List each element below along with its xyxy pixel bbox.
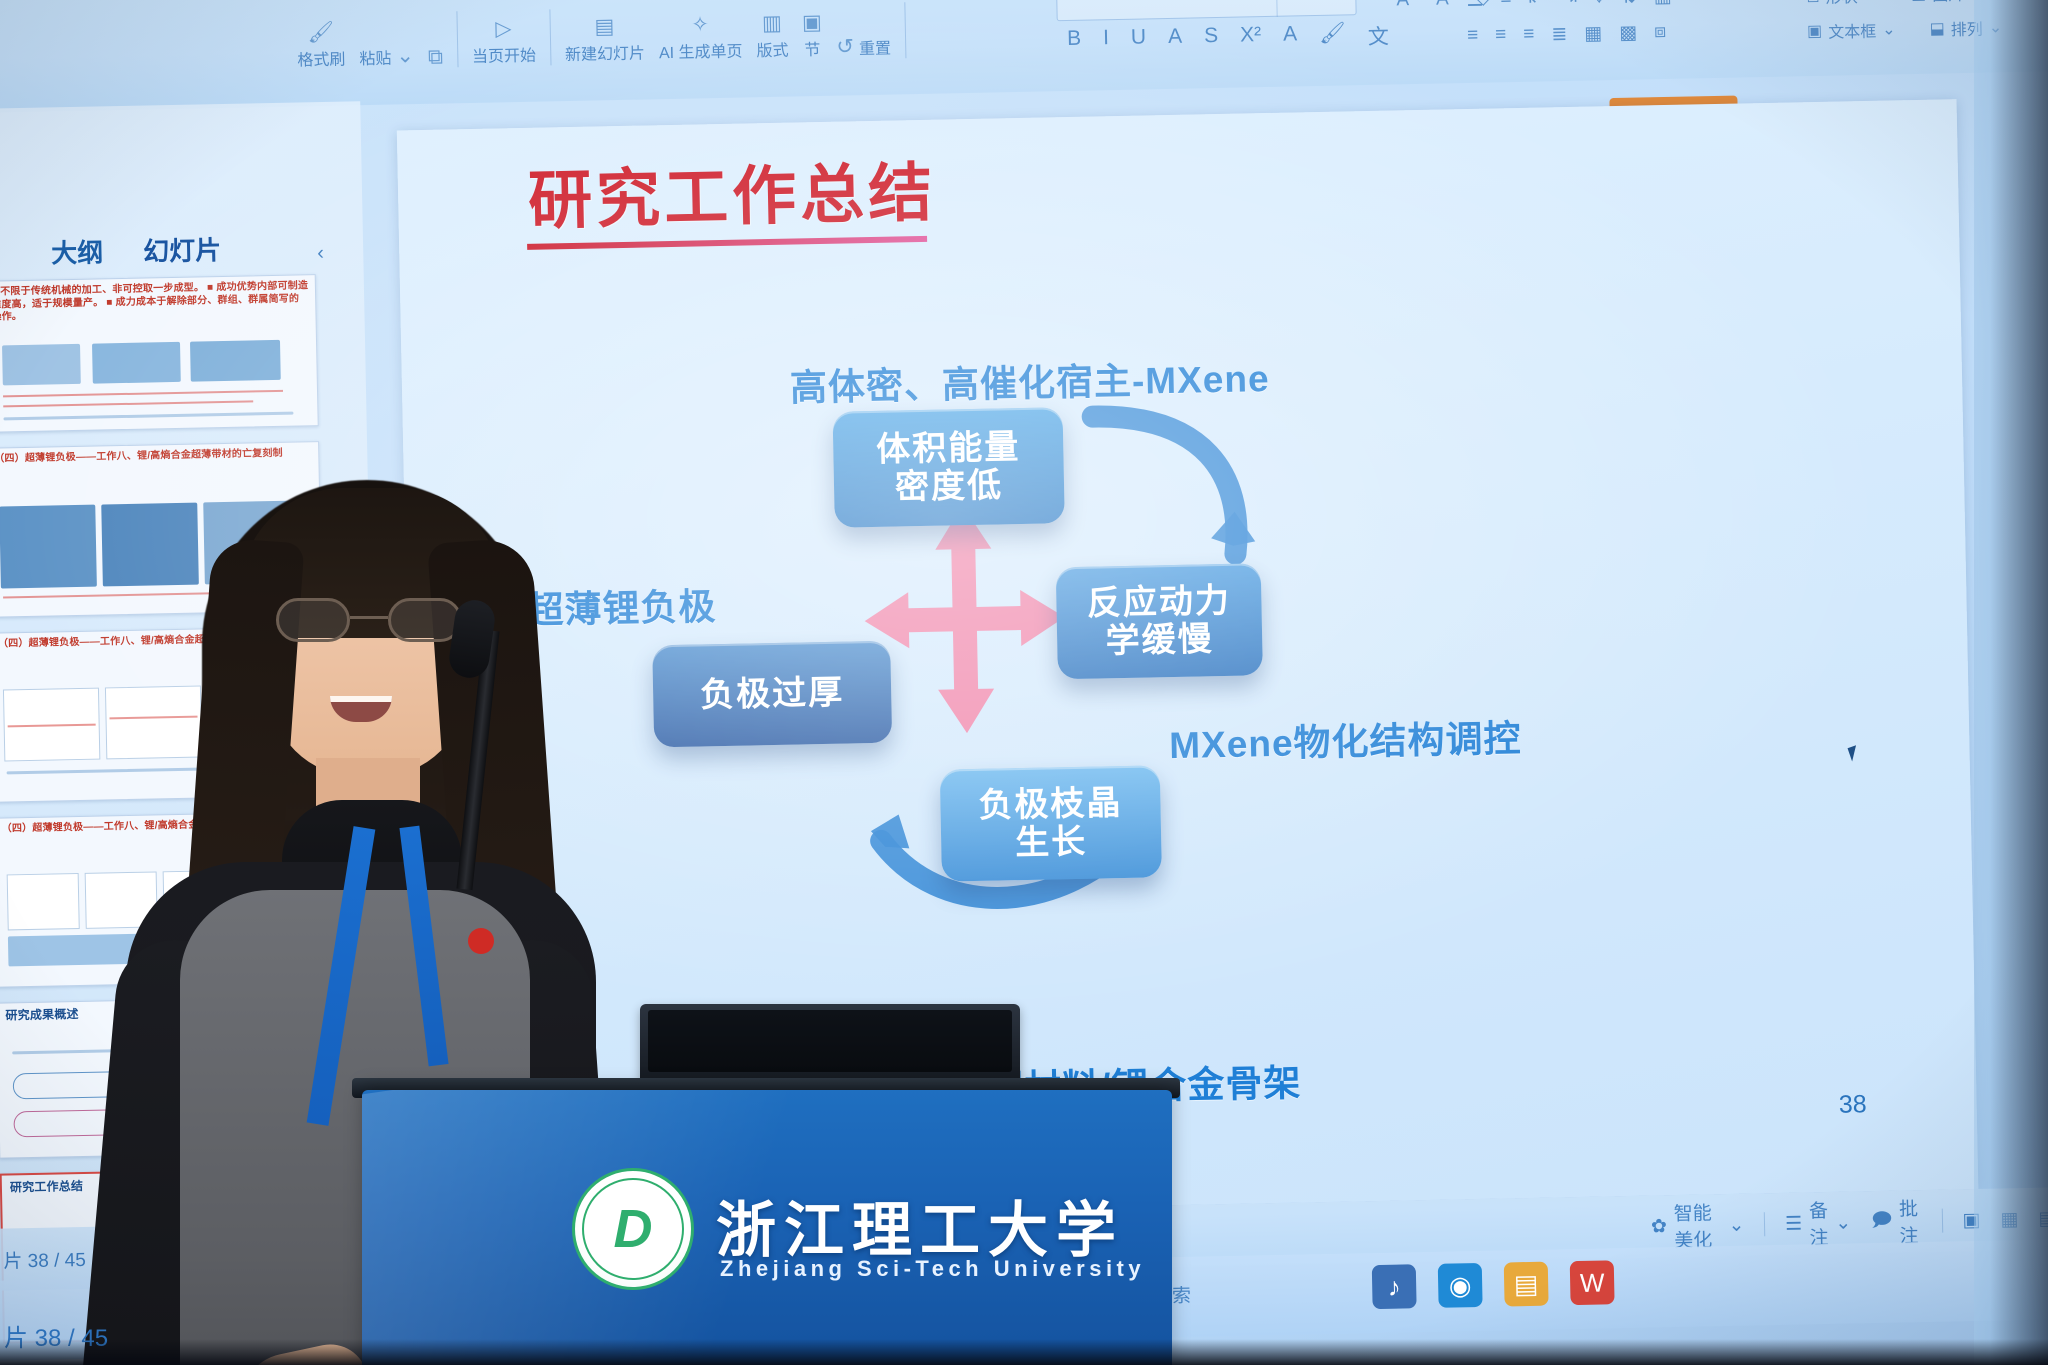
picture-label: 图片 xyxy=(1932,0,1964,6)
bold-button[interactable]: B xyxy=(1067,27,1082,57)
ai-generate-page-label: AI 生成单页 xyxy=(659,38,743,64)
list-item[interactable]: ■ 不限于传统机械的加工、非可控取一步成型。 ■ 成功优势内部可制造难度高，适于… xyxy=(0,274,319,433)
columns-icon[interactable]: ▥ xyxy=(1654,0,1672,8)
chevron-left-icon[interactable]: ‹ xyxy=(317,242,324,265)
photo-right-shadow xyxy=(1990,0,2048,1365)
textbox-label: 文本框 xyxy=(1828,18,1876,43)
chevron-down-icon: ⌄ xyxy=(1882,19,1896,39)
textbox-align-icon[interactable]: ⧈ xyxy=(1654,21,1667,44)
chevron-down-icon: ⌄ xyxy=(1863,0,1877,5)
format-painter-icon: 🖌 xyxy=(307,23,334,44)
bullet-list-icon[interactable]: ☰ xyxy=(1466,0,1484,12)
underline-button[interactable]: U xyxy=(1131,25,1147,55)
copy-icon: ⧉ xyxy=(428,48,443,68)
superscript-button[interactable]: X² xyxy=(1240,23,1262,53)
align-right-icon[interactable]: ≡ xyxy=(1523,24,1535,47)
slide-page-number: 38 xyxy=(1839,1090,1867,1120)
increase-font-button[interactable]: A⁺ xyxy=(1396,0,1419,11)
pinyin-button[interactable]: 文 xyxy=(1368,21,1390,51)
chevron-down-icon: ⌄ xyxy=(1835,1211,1851,1234)
shape-label: 形状 xyxy=(1825,0,1857,8)
text-direction-icon[interactable]: ⇅ xyxy=(1621,0,1637,9)
ai-page-icon: ✧ xyxy=(691,15,709,35)
layout-icon: ▥ xyxy=(762,14,782,34)
comment-label: 批注 xyxy=(1899,1194,1923,1248)
divider xyxy=(1941,1209,1942,1233)
diagram-node-energy-density[interactable]: 体积能量 密度低 xyxy=(833,407,1065,528)
insert-group: ◻ 形状 ⌄ ◱ 图片 ⌄ ▣ 文本框 ⌄ ⬓ 排列 ⌄ xyxy=(1806,0,2002,43)
notes-label: 备注 xyxy=(1809,1196,1829,1250)
start-from-current-label: 当页开始 xyxy=(472,42,536,67)
university-logo: D ZHEJIANG SCI-TECH UNIVERSITY 浙 江 理 工 大… xyxy=(572,1168,694,1290)
comment-icon: 🗩 xyxy=(1871,1206,1893,1238)
line-spacing-icon[interactable]: ↕ xyxy=(1594,0,1604,9)
format-painter-button[interactable]: 🖌 格式刷 xyxy=(297,23,346,71)
caption-mxene-structure: MXene物化结构调控 xyxy=(1169,708,1522,769)
arrange-button[interactable]: ⬓ xyxy=(1929,18,1945,38)
comment-button[interactable]: 🗩 批注 xyxy=(1871,1194,1923,1249)
divider xyxy=(1764,1212,1765,1236)
align-center-icon[interactable]: ≡ xyxy=(1495,24,1507,47)
thumbnail-title: （四）超薄锂负极——工作八、锂/高熵合金超薄带材的亡复刻制 xyxy=(0,447,312,466)
font-size-select[interactable] xyxy=(1276,0,1369,17)
align-left-icon[interactable]: ≡ xyxy=(1467,25,1479,48)
layout-label: 版式 xyxy=(756,37,788,62)
photo-bottom-shadow xyxy=(0,1339,2048,1365)
paragraph-group-row2: ≡ ≡ ≡ ≣ ▦ ▩ ⧈ xyxy=(1467,21,1667,48)
layout-button[interactable]: ▥ 版式 xyxy=(756,14,789,62)
picture-button[interactable]: ◱ xyxy=(1911,0,1927,4)
university-name-en: Zhejiang Sci-Tech University xyxy=(720,1256,1145,1282)
tab-slides[interactable]: 幻灯片 xyxy=(143,230,222,269)
decrease-indent-icon[interactable]: ⇤ xyxy=(1528,0,1544,11)
music-app-icon[interactable]: ♪ xyxy=(1372,1264,1417,1309)
panel-tab-bar[interactable]: 大纲 幻灯片 xyxy=(51,230,222,270)
tab-outline[interactable]: 大纲 xyxy=(51,232,104,270)
laptop xyxy=(640,1004,1020,1082)
notes-icon: ☰ xyxy=(1785,1212,1803,1235)
format-painter-label: 格式刷 xyxy=(297,45,345,70)
section-button[interactable]: ▣ 节 xyxy=(802,13,823,60)
caption-host-material: 高体密、高催化宿主-MXene xyxy=(789,348,1270,412)
ai-generate-page-button[interactable]: ✧ AI 生成单页 xyxy=(658,15,743,64)
strikethrough-button[interactable]: S xyxy=(1204,24,1219,54)
text-effect-button[interactable]: A xyxy=(1168,25,1183,55)
wps-office-icon[interactable]: W xyxy=(1570,1260,1615,1305)
new-slide-icon: ▤ xyxy=(594,17,614,37)
highlight-button[interactable]: 🖌 xyxy=(1319,21,1346,52)
numbered-list-icon[interactable]: ≡ xyxy=(1500,0,1512,11)
play-circle-icon: ▷ xyxy=(495,19,512,39)
paste-button[interactable]: 粘贴 ⌄ xyxy=(359,44,414,69)
diagram-node-slow-kinetics[interactable]: 反应动力 学缓慢 xyxy=(1056,563,1263,679)
shape-button[interactable]: ◻ 形状 ⌄ ◱ 图片 ⌄ xyxy=(1806,0,2002,8)
section-icon: ▣ xyxy=(802,13,822,33)
shape-icon: ◻ xyxy=(1806,0,1820,6)
notes-button[interactable]: ☰ 备注 ⌄ xyxy=(1785,1196,1852,1251)
chevron-down-icon: ⌄ xyxy=(1728,1213,1744,1236)
decrease-font-button[interactable]: A⁻ xyxy=(1436,0,1459,11)
textbox-icon: ▣ xyxy=(1807,21,1823,41)
diagram-node-thick-anode[interactable]: 负极过厚 xyxy=(652,641,892,748)
font-color-button[interactable]: A xyxy=(1283,22,1298,52)
reset-button[interactable]: ↺ 重置 xyxy=(836,35,891,60)
microphone-indicator-light xyxy=(468,928,494,954)
glasses-icon xyxy=(276,598,462,644)
new-slide-button[interactable]: ▤ 新建幻灯片 xyxy=(564,16,645,65)
distribute-icon[interactable]: ▦ xyxy=(1584,22,1602,45)
section-label: 节 xyxy=(804,36,820,60)
divider xyxy=(549,9,551,65)
laptop-screen xyxy=(648,1010,1012,1072)
increase-indent-icon[interactable]: ⇥ xyxy=(1561,0,1577,10)
paste-label: 粘贴 xyxy=(359,45,391,70)
chevron-down-icon: ⌄ xyxy=(396,46,414,66)
start-from-current-button[interactable]: ▷ 当页开始 xyxy=(471,19,536,67)
edge-browser-icon[interactable]: ◉ xyxy=(1438,1263,1483,1308)
taskbar-app-icons: ♪ ◉ ▤ W xyxy=(1372,1260,1615,1309)
divider xyxy=(456,11,458,67)
file-explorer-icon[interactable]: ▤ xyxy=(1504,1262,1549,1307)
italic-button[interactable]: I xyxy=(1103,26,1109,56)
reset-icon: ↺ xyxy=(836,37,854,57)
smartart-icon[interactable]: ▩ xyxy=(1619,22,1637,45)
justify-icon[interactable]: ≣ xyxy=(1551,23,1567,46)
reset-label: 重置 xyxy=(859,35,891,60)
new-slide-label: 新建幻灯片 xyxy=(565,39,645,65)
screenshot-root: 设计 切换 动画 放映 审阅 视图 工具 会员专享 🖌 格式刷 粘贴 xyxy=(0,0,2048,1365)
thumbnail-body xyxy=(0,305,310,423)
copy-button[interactable]: ⧉ xyxy=(428,48,443,68)
magic-wand-icon: ✿ xyxy=(1651,1215,1667,1238)
wps-ribbon: 设计 切换 动画 放映 审阅 视图 工具 会员专享 🖌 格式刷 粘贴 xyxy=(0,0,2048,113)
beautify-label: 智能美化 xyxy=(1673,1198,1722,1253)
diagram-node-dendrite-growth[interactable]: 负极枝晶 生长 xyxy=(940,765,1162,881)
